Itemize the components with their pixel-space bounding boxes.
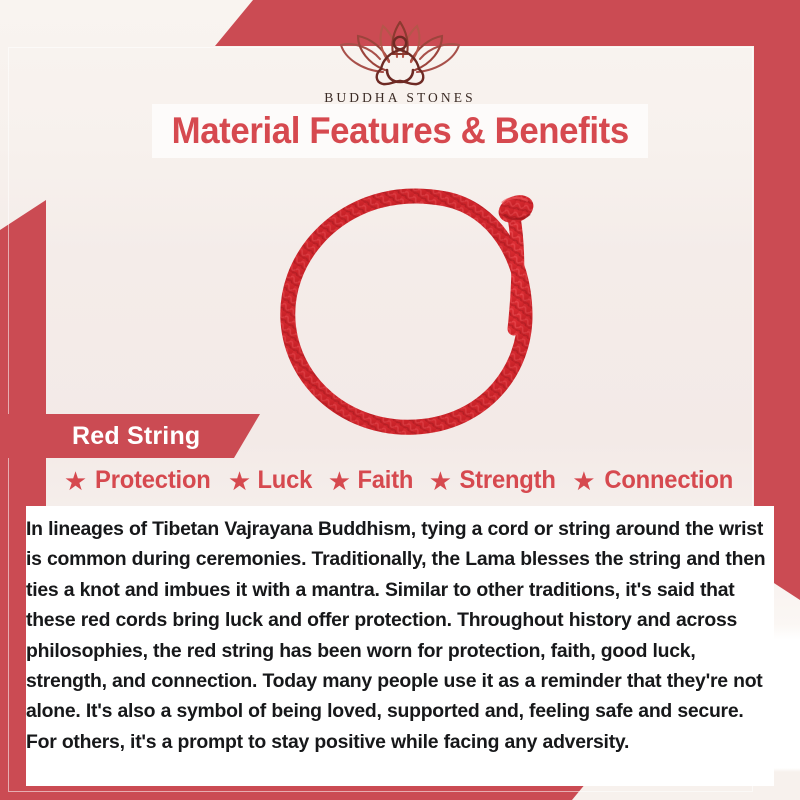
title-banner: Material Features & Benefits bbox=[152, 104, 648, 158]
product-image-red-string-bracelet bbox=[248, 165, 578, 450]
star-icon: ★ bbox=[328, 468, 351, 494]
section-ribbon-label: Red String bbox=[72, 422, 200, 451]
description-panel: In lineages of Tibetan Vajrayana Buddhis… bbox=[26, 506, 774, 786]
page-title: Material Features & Benefits bbox=[171, 110, 628, 152]
feature-item-connection: ★ Connection bbox=[572, 466, 736, 495]
brand-logo: BUDDHA STONES bbox=[0, 14, 800, 106]
feature-item-strength: ★ Strength bbox=[429, 466, 558, 495]
feature-item-faith: ★ Faith bbox=[328, 466, 415, 495]
feature-item-protection: ★ Protection bbox=[64, 466, 214, 495]
feature-label: Faith bbox=[358, 466, 414, 495]
star-icon: ★ bbox=[572, 468, 595, 494]
star-icon: ★ bbox=[64, 468, 87, 494]
braided-cord-illustration bbox=[248, 165, 578, 450]
infographic-card: BUDDHA STONES Material Features & Benefi… bbox=[0, 0, 800, 800]
lotus-meditating-figure-icon bbox=[325, 14, 475, 88]
star-icon: ★ bbox=[429, 468, 452, 494]
sliding-knot bbox=[494, 190, 537, 228]
section-ribbon-red-string: Red String bbox=[0, 414, 260, 458]
feature-label: Protection bbox=[95, 466, 211, 495]
feature-label: Luck bbox=[258, 466, 313, 495]
feature-label: Connection bbox=[604, 466, 733, 495]
star-icon: ★ bbox=[228, 468, 251, 494]
feature-list: ★ Protection ★ Luck ★ Faith ★ Strength ★… bbox=[0, 466, 800, 495]
feature-label: Strength bbox=[460, 466, 556, 495]
feature-item-luck: ★ Luck bbox=[228, 466, 314, 495]
description-text: In lineages of Tibetan Vajrayana Buddhis… bbox=[26, 506, 774, 757]
